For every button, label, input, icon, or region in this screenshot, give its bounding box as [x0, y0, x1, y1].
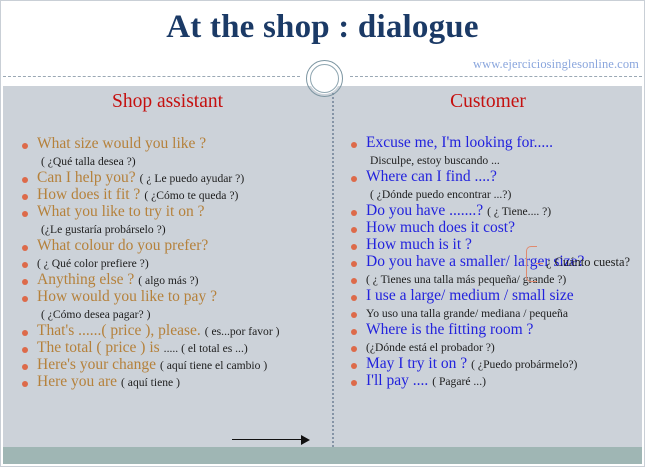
- phrase-english: Here you are: [37, 373, 117, 390]
- phrase-english: The total ( price ) is: [37, 339, 160, 356]
- phrase-english: Here's your change: [37, 356, 156, 373]
- phrase-english: I use a large/ medium / small size: [366, 287, 574, 304]
- list-item: Disculpe, estoy buscando ...: [342, 152, 642, 168]
- phrase-english: What you like to try it on ?: [37, 203, 204, 220]
- content-panel: Shop assistant What size would you like …: [3, 86, 642, 464]
- phrase-english: Do you have .......?: [366, 202, 483, 219]
- arrow-head: [301, 435, 310, 445]
- phrase-translation: ( Pagaré ...): [432, 375, 486, 388]
- list-item: What you like to try it on ?: [13, 204, 332, 220]
- header-divider-left: [3, 76, 300, 77]
- list-item: ( ¿ Qué color prefiere ?): [13, 255, 332, 271]
- decorative-circle-icon: [306, 60, 343, 97]
- list-item: Here's your change ( aquí tiene el cambi…: [13, 357, 332, 373]
- phrase-translation: ( algo más ?): [138, 274, 198, 287]
- phrase-english: How much does it cost?: [366, 219, 515, 236]
- phrase-english: Can I help you?: [37, 169, 136, 186]
- phrase-translation: ( es...por favor ): [205, 325, 280, 338]
- list-item: I'll pay .... ( Pagaré ...): [342, 373, 642, 389]
- phrase-english: Anything else ?: [37, 271, 134, 288]
- phrase-english: Where is the fitting room ?: [366, 321, 533, 338]
- page-title: At the shop : dialogue: [1, 9, 644, 46]
- list-item: Anything else ? ( algo más ?): [13, 272, 332, 288]
- phrase-translation: (¿Le gustaría probárselo ?): [41, 223, 166, 236]
- list-item: Where is the fitting room ?: [342, 322, 642, 338]
- list-item: Where can I find ....?: [342, 169, 642, 185]
- list-item: ( ¿Cómo desea pagar? ): [13, 306, 332, 322]
- phrase-translation: ( ¿ Tiene.... ?): [487, 205, 551, 218]
- list-item: The total ( price ) is ..... ( el total …: [13, 340, 332, 356]
- header-divider-right: [350, 76, 642, 77]
- list-item: I use a large/ medium / small size: [342, 288, 642, 304]
- phrase-translation: Disculpe, estoy buscando ...: [370, 154, 500, 167]
- list-item: Can I help you? ( ¿ Le puedo ayudar ?): [13, 170, 332, 186]
- list-item: (¿Dónde está el probador ?): [342, 339, 642, 355]
- phrase-english: What colour do you prefer?: [37, 237, 208, 254]
- list-item: Do you have .......? ( ¿ Tiene.... ?): [342, 203, 642, 219]
- list-item: May I try it on ? ( ¿Puedo probármelo?): [342, 356, 642, 372]
- curly-brace-icon: [526, 246, 537, 282]
- column-customer: Customer Excuse me, I'm looking for.....…: [334, 86, 642, 390]
- phrase-translation: ( ¿Qué talla desea ?): [41, 155, 136, 168]
- price-brace-annotation: ¿ Cuánto cuesta?: [526, 246, 645, 282]
- list-item: What size would you like ?: [13, 136, 332, 152]
- phrase-english: How much is it ?: [366, 236, 472, 253]
- phrase-translation: ( ¿ Qué color prefiere ?): [37, 257, 149, 270]
- phrase-english: That's ......( price ), please.: [37, 322, 201, 339]
- phrase-translation: ( aquí tiene el cambio ): [160, 359, 267, 372]
- phrase-translation: ( ¿ Le puedo ayudar ?): [140, 172, 245, 185]
- phrase-translation: (¿Dónde está el probador ?): [366, 341, 495, 354]
- bottom-accent-strip: [3, 447, 642, 464]
- list-item: How would you like to pay ?: [13, 289, 332, 305]
- arrow-shaft: [232, 439, 304, 440]
- phrase-translation: ( ¿Puedo probármelo?): [471, 358, 577, 371]
- site-url-label: www.ejerciciosinglesonline.com: [473, 57, 639, 72]
- phrase-english: Excuse me, I'm looking for.....: [366, 134, 553, 151]
- list-item: How much does it cost?: [342, 220, 642, 236]
- column-shop-assistant: Shop assistant What size would you like …: [3, 86, 332, 391]
- phrase-translation: ( ¿Dónde puedo encontrar ...?): [370, 188, 511, 201]
- phrase-english: How would you like to pay ?: [37, 288, 217, 305]
- phrase-english: May I try it on ?: [366, 355, 467, 372]
- phrase-english: How does it fit ?: [37, 186, 140, 203]
- list-item: How does it fit ? ( ¿Cómo te queda ?): [13, 187, 332, 203]
- shop-assistant-phrase-list: What size would you like ?( ¿Qué talla d…: [3, 136, 332, 390]
- list-item: Yo uso una talla grande/ mediana / peque…: [342, 305, 642, 321]
- list-item: (¿Le gustaría probárselo ?): [13, 221, 332, 237]
- phrase-translation: Yo uso una talla grande/ mediana / peque…: [366, 307, 568, 320]
- phrase-english: I'll pay ....: [366, 372, 428, 389]
- phrase-english: Where can I find ....?: [366, 168, 497, 185]
- phrase-translation: ( aquí tiene ): [121, 376, 180, 389]
- column-heading-customer: Customer: [334, 91, 642, 113]
- phrase-translation: ( ¿Cómo desea pagar? ): [41, 308, 150, 321]
- brace-label-text: ¿ Cuánto cuesta?: [546, 255, 630, 270]
- list-item: ( ¿Qué talla desea ?): [13, 153, 332, 169]
- list-item: ( ¿Dónde puedo encontrar ...?): [342, 186, 642, 202]
- column-heading-shop-assistant: Shop assistant: [3, 91, 332, 113]
- list-item: That's ......( price ), please. ( es...p…: [13, 323, 332, 339]
- phrase-english: What size would you like ?: [37, 135, 206, 152]
- right-arrow-icon: [232, 434, 310, 444]
- list-item: Here you are ( aquí tiene ): [13, 374, 332, 390]
- list-item: What colour do you prefer?: [13, 238, 332, 254]
- phrase-translation: ..... ( el total es ...): [164, 342, 248, 355]
- brace-tick-icon: [536, 263, 543, 264]
- phrase-translation: ( ¿Cómo te queda ?): [144, 189, 238, 202]
- list-item: Excuse me, I'm looking for.....: [342, 135, 642, 151]
- slide-canvas: At the shop : dialogue www.ejerciciosing…: [0, 0, 645, 467]
